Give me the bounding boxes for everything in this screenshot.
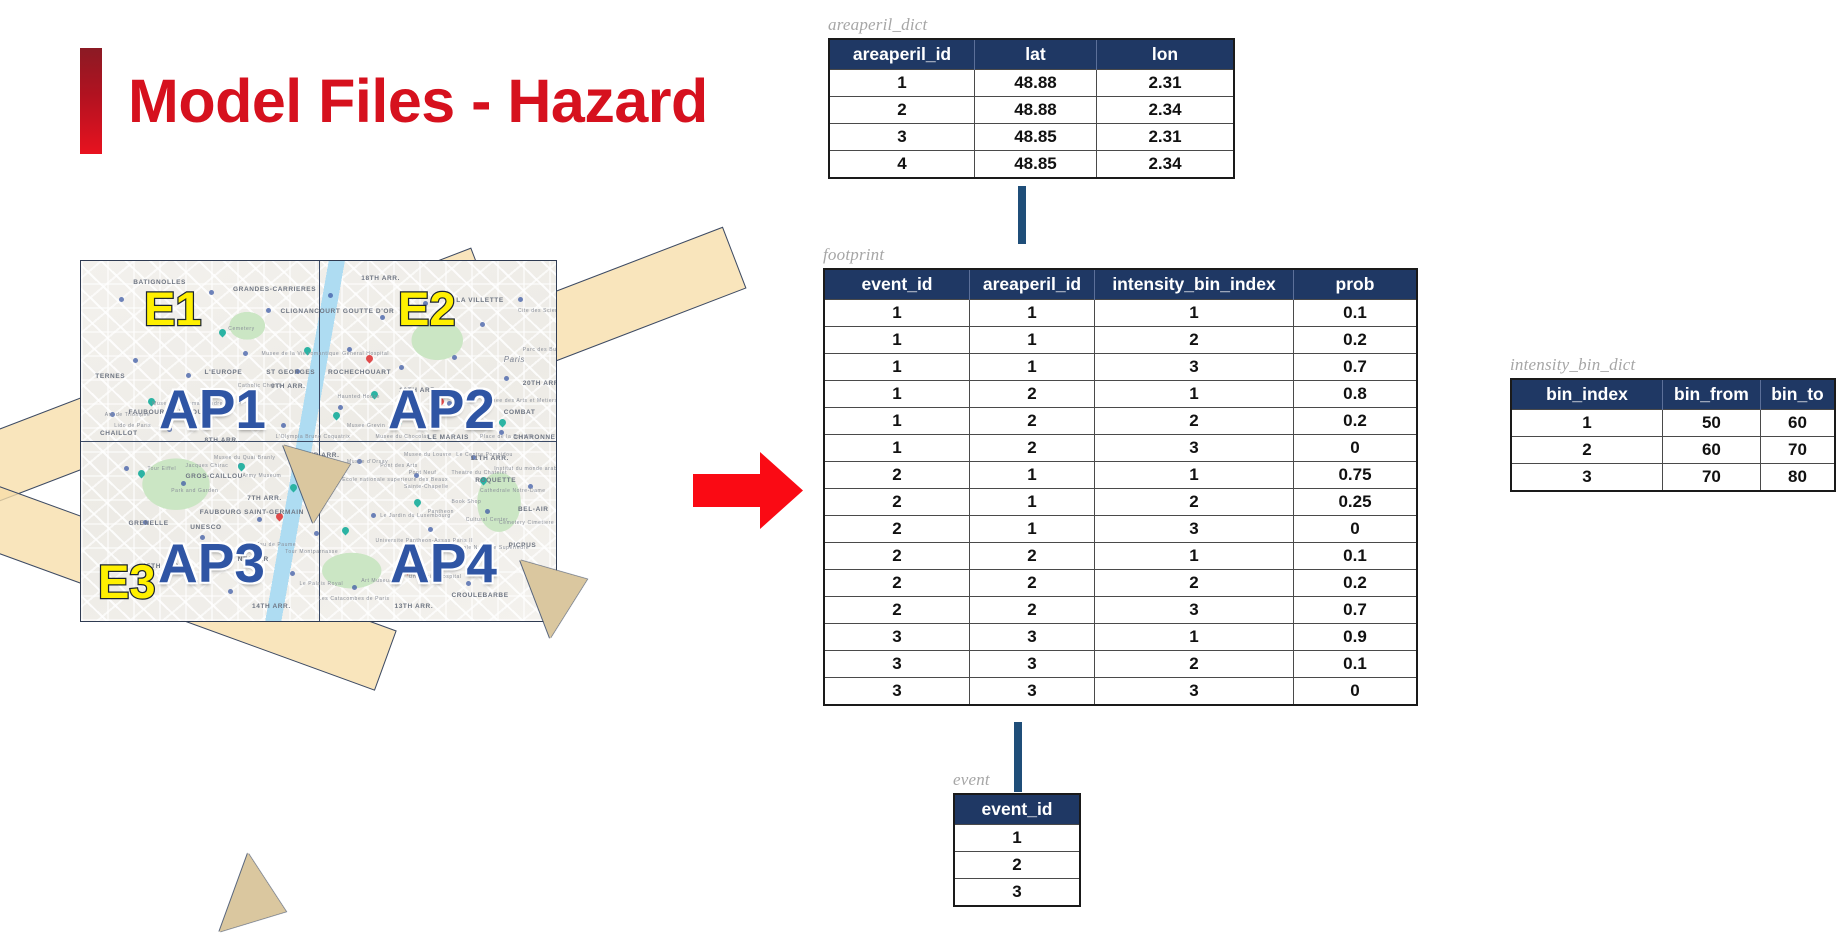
map-areaperil-label-ap1: AP1 [159,382,266,437]
cell-lat: 48.88 [975,70,1097,97]
map-poi-label: Musee Grevin [347,423,385,429]
cell-areaperil-id: 2 [829,97,975,124]
map-place-label: ST GEORGES [266,369,315,376]
cell-lon: 2.31 [1097,124,1235,151]
event-table: event_id 1 2 3 [953,793,1081,907]
cell-bin-to: 60 [1760,410,1835,437]
map-place-label: 7TH ARR. [247,495,282,502]
column-header-bin-index: bin_index [1511,379,1662,410]
map-poi-dot [257,517,262,522]
map-place-label: LA VILLETTE [456,297,504,304]
cell-prob: 0 [1294,435,1418,462]
cell-prob: 0.1 [1294,300,1418,327]
map-poi-label: Jacques Chirac [186,463,229,469]
map-place-label: 14TH ARR. [252,603,291,610]
map-place-label: GROS-CAILLOU [186,473,243,480]
cell-prob: 0.9 [1294,624,1418,651]
cell-prob: 0.8 [1294,381,1418,408]
page-title: Model Files - Hazard [128,48,708,154]
map-poi-label: Pont Neuf [409,470,437,476]
column-header-lon: lon [1097,39,1235,70]
cell-areaperil-id: 1 [970,516,1095,543]
column-header-event-id: event_id [824,269,970,300]
cell-intensity-bin-index: 3 [1095,678,1294,706]
map-poi-label: Haunted House [338,394,381,400]
cell-areaperil-id: 2 [970,570,1095,597]
table-row: 2220.2 [824,570,1417,597]
column-header-prob: prob [1294,269,1418,300]
cell-prob: 0.7 [1294,354,1418,381]
map-event-label-e3: E3 [98,558,156,605]
cell-event-id: 1 [824,327,970,354]
map-poi-label: Park and Garden [171,488,218,494]
cell-areaperil-id: 1 [970,462,1095,489]
cell-bin-index: 2 [1511,437,1662,464]
map-place-label: L'EUROPE [205,369,243,376]
map-poi-dot [281,423,286,428]
cell-event-id: 3 [824,624,970,651]
map-poi-label: Musee du Quai Branly [214,455,275,461]
cell-areaperil-id: 1 [829,70,975,97]
intensity-bin-dict-table-block: intensity_bin_dict bin_index bin_from bi… [1510,355,1836,492]
map-place-label: FAUBOURG SAINT-GERMAIN [200,509,304,516]
column-header-areaperil-id: areaperil_id [829,39,975,70]
column-header-intensity-bin-index: intensity_bin_index [1095,269,1294,300]
cell-lon: 2.31 [1097,70,1235,97]
cell-prob: 0.25 [1294,489,1418,516]
cell-event-id: 2 [824,516,970,543]
map-poi-dot [186,373,191,378]
map-areaperil-label-ap4: AP4 [390,536,497,591]
cell-lat: 48.88 [975,97,1097,124]
map-place-label: GRANDES-CARRIERES [233,286,316,293]
table-header-row: areaperil_id lat lon [829,39,1234,70]
cell-prob: 0.75 [1294,462,1418,489]
table-row: 4 48.85 2.34 [829,151,1234,179]
map-poi-dot [338,405,343,410]
map-poi-label: Cite des Sciences [518,308,557,314]
map-poi-label: Pantheon [428,509,454,515]
map-poi-label: Arc de Triomphe [105,412,151,418]
cell-event-id: 1 [824,408,970,435]
cell-areaperil-id: 3 [829,124,975,151]
map-poi-label: Ecole nationale superieure des Beaux [342,477,448,483]
cell-areaperil-id: 4 [829,151,975,179]
cell-bin-from: 50 [1662,410,1760,437]
column-header-bin-from: bin_from [1662,379,1760,410]
map-poi-dot [352,585,357,590]
column-header-lat: lat [975,39,1097,70]
cell-areaperil-id: 1 [970,354,1095,381]
cell-intensity-bin-index: 3 [1095,516,1294,543]
map-poi-label: General Hospital [342,351,389,357]
cell-prob: 0.2 [1294,570,1418,597]
map-poi-label: Le Palais Royal [300,581,344,587]
map-poi-label: Cemetery Cimetiere du Pere-Lachaise [499,520,557,526]
footprint-table-block: footprint event_id areaperil_id intensit… [823,245,1418,706]
table-row: 1210.8 [824,381,1417,408]
table-row: 3 70 80 [1511,464,1835,492]
table-row: 2230.7 [824,597,1417,624]
cell-areaperil-id: 3 [970,678,1095,706]
cell-intensity-bin-index: 3 [1095,354,1294,381]
map-poi-label: Musee des Arts et Metiers [485,398,557,404]
slide-title-block: Model Files - Hazard [80,48,708,154]
cell-event-id: 2 [824,489,970,516]
map-place-label: CHAILLOT [100,430,138,437]
map-poi-label: Cemetery [228,326,254,332]
intensity-bin-dict-caption: intensity_bin_dict [1510,355,1836,375]
cell-prob: 0.7 [1294,597,1418,624]
table-header-row: event_id [954,794,1080,825]
title-accent-bar [80,48,102,154]
cell-event-id: 2 [824,543,970,570]
table-row: 2110.75 [824,462,1417,489]
cell-intensity-bin-index: 1 [1095,624,1294,651]
map-poi-label: Musee de la Vie romantique [262,351,340,357]
map-poi-dot [119,297,124,302]
cell-intensity-bin-index: 2 [1095,327,1294,354]
table-row: 2 [954,852,1080,879]
cell-bin-index: 3 [1511,464,1662,492]
map-place-label: BEL-AIR [518,506,549,513]
cell-event-id: 3 [824,678,970,706]
cell-prob: 0 [1294,516,1418,543]
table-row: 3 48.85 2.31 [829,124,1234,151]
cell-intensity-bin-index: 2 [1095,489,1294,516]
map-poi-dot [504,376,509,381]
map-poi-label: Musee du Louvre [404,452,452,458]
map-place-label: ROQUETTE [475,477,516,484]
cell-lat: 48.85 [975,151,1097,179]
cell-event-id: 3 [824,651,970,678]
cell-bin-from: 60 [1662,437,1760,464]
table-header-row: bin_index bin_from bin_to [1511,379,1835,410]
cell-event-id: 1 [824,435,970,462]
cell-areaperil-id: 1 [970,489,1095,516]
cell-event-id: 2 [824,597,970,624]
cell-intensity-bin-index: 1 [1095,462,1294,489]
cell-event-id: 2 [824,570,970,597]
cell-intensity-bin-index: 3 [1095,435,1294,462]
map-poi-label: Tour Montparnasse [285,549,338,555]
cell-areaperil-id: 1 [970,300,1095,327]
cell-lon: 2.34 [1097,151,1235,179]
map-poi-dot [243,351,248,356]
table-row: 3320.1 [824,651,1417,678]
cell-prob: 0.1 [1294,651,1418,678]
cell-bin-index: 1 [1511,410,1662,437]
connector-areaperil-to-footprint [1018,186,1026,244]
map-place-label: TERNES [95,373,125,380]
cell-event-id: 1 [824,354,970,381]
map-poi-label: Les Catacombes de Paris [319,596,390,602]
map-poi-dot [181,481,186,486]
table-row: 1 [954,825,1080,852]
areaperil-dict-table-block: areaperil_dict areaperil_id lat lon 1 48… [828,15,1235,179]
cell-event-id: 2 [954,852,1080,879]
map-place-label: 18TH ARR. [361,275,400,282]
map-place-label: 13TH ARR. [395,603,434,610]
cell-event-id: 1 [954,825,1080,852]
hazard-map-figure: BATIGNOLLES GRANDES-CARRIERES 18TH ARR. … [0,230,680,700]
map-poi-label: Book Shop [452,499,482,505]
map-poi-label: Tour Eiffel [148,466,177,472]
cell-event-id: 2 [824,462,970,489]
map-areaperil-label-ap2: AP2 [388,382,495,437]
event-caption: event [953,770,1081,790]
map-place-label: ROCHECHOUART [328,369,391,376]
column-header-areaperil-id: areaperil_id [970,269,1095,300]
map-poi-dot [452,355,457,360]
cell-prob: 0.2 [1294,327,1418,354]
areaperil-dict-table: areaperil_id lat lon 1 48.88 2.31 2 48.8… [828,38,1235,179]
table-row: 3310.9 [824,624,1417,651]
map-place-label: UNESCO [190,524,221,531]
map-poi-label: Le Centre Pompidou [456,452,513,458]
column-header-bin-to: bin_to [1760,379,1835,410]
map-poi-label: Cathedrale Notre-Dame [480,488,546,494]
cell-intensity-bin-index: 1 [1095,300,1294,327]
cell-areaperil-id: 2 [970,435,1095,462]
map-poi-label: Lido de Paris [114,423,151,429]
map-place-label: COMBAT [504,409,536,416]
table-row: 2 48.88 2.34 [829,97,1234,124]
footprint-table: event_id areaperil_id intensity_bin_inde… [823,268,1418,706]
table-row: 1 50 60 [1511,410,1835,437]
map-poi-label: Parc des Buttes-Chaumont [523,347,557,353]
cell-bin-to: 70 [1760,437,1835,464]
map-place-label: CLIGNANCOURT GOUTTE D'OR [281,308,395,315]
map-poi-dot [371,513,376,518]
intensity-bin-dict-table: bin_index bin_from bin_to 1 50 60 2 60 7… [1510,378,1836,492]
map-poi-label: Pont des Arts [380,463,418,469]
cell-event-id: 1 [824,381,970,408]
cell-areaperil-id: 2 [970,597,1095,624]
cell-intensity-bin-index: 1 [1095,543,1294,570]
cell-prob: 0.2 [1294,408,1418,435]
cell-lat: 48.85 [975,124,1097,151]
table-row: 2130 [824,516,1417,543]
map-event-label-e1: E1 [144,285,202,332]
cell-event-id: 3 [954,879,1080,907]
map-place-label: GRENELLE [129,520,169,527]
cell-intensity-bin-index: 1 [1095,381,1294,408]
cell-bin-to: 80 [1760,464,1835,492]
cell-areaperil-id: 2 [970,543,1095,570]
table-row: 1130.7 [824,354,1417,381]
table-row: 1 48.88 2.31 [829,70,1234,97]
table-row: 3 [954,879,1080,907]
map-event-label-e2: E2 [398,285,456,332]
cell-areaperil-id: 3 [970,651,1095,678]
cell-areaperil-id: 2 [970,408,1095,435]
flow-arrow-right [693,452,803,529]
table-row: 1220.2 [824,408,1417,435]
cell-lon: 2.34 [1097,97,1235,124]
table-row: 3330 [824,678,1417,706]
areaperil-dict-caption: areaperil_dict [828,15,1235,35]
map-poi-label: Institut du monde arabe [494,466,557,472]
map-poi-label: Army Museum [243,473,282,479]
column-header-event-id: event_id [954,794,1080,825]
table-row: 1120.2 [824,327,1417,354]
table-row: 2 60 70 [1511,437,1835,464]
map-poi-dot [518,297,523,302]
cell-bin-from: 70 [1662,464,1760,492]
map-poi-dot [314,531,319,536]
map-poi-label: Sainte-Chapelle [404,484,449,490]
table-row: 1110.1 [824,300,1417,327]
map-poi-dot [124,466,129,471]
cell-areaperil-id: 3 [970,624,1095,651]
event-table-block: event event_id 1 2 3 [953,770,1081,907]
table-header-row: event_id areaperil_id intensity_bin_inde… [824,269,1417,300]
cell-intensity-bin-index: 2 [1095,408,1294,435]
cell-areaperil-id: 2 [970,381,1095,408]
map-poi-dot [290,571,295,576]
table-row: 2210.1 [824,543,1417,570]
cell-intensity-bin-index: 2 [1095,570,1294,597]
cell-prob: 0.1 [1294,543,1418,570]
table-row: 2120.25 [824,489,1417,516]
cell-intensity-bin-index: 2 [1095,651,1294,678]
cell-prob: 0 [1294,678,1418,706]
cell-event-id: 1 [824,300,970,327]
cell-intensity-bin-index: 3 [1095,597,1294,624]
table-row: 1230 [824,435,1417,462]
map-place-label: 20TH ARR. [523,380,557,387]
cell-areaperil-id: 1 [970,327,1095,354]
footprint-caption: footprint [823,245,1418,265]
map-city-label: Paris [504,355,525,364]
map-areaperil-label-ap3: AP3 [158,536,265,591]
